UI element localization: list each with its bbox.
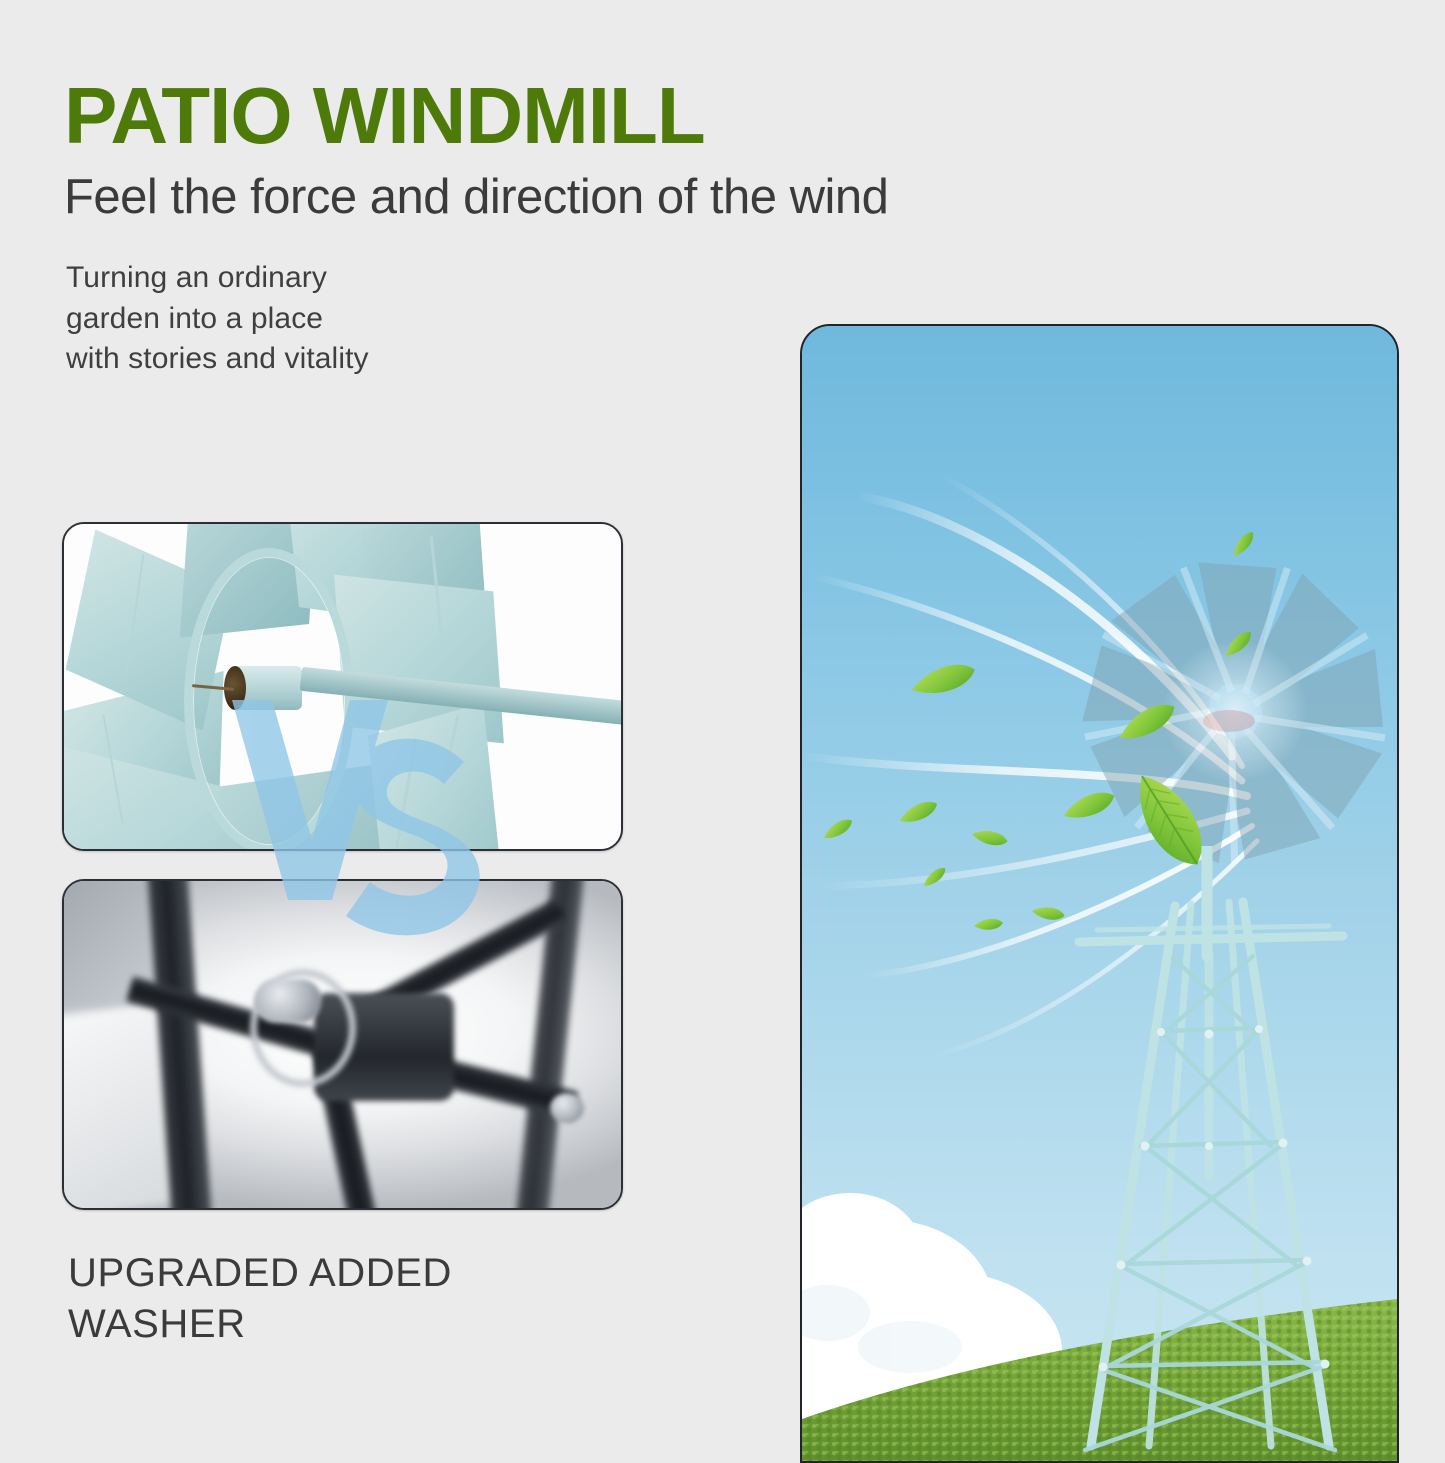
feature-caption-line-2: WASHER xyxy=(68,1299,452,1350)
page-subtitle: Feel the force and direction of the wind xyxy=(64,172,964,223)
windmill-hero-photo xyxy=(800,324,1399,1463)
headline-block: PATIO WINDMILL Feel the force and direct… xyxy=(64,78,964,223)
upgraded-washer-photo-card xyxy=(62,879,623,1210)
page-title: PATIO WINDMILL xyxy=(64,78,964,154)
upgraded-washer-photo xyxy=(64,881,621,1208)
infographic-canvas: PATIO WINDMILL Feel the force and direct… xyxy=(0,0,1445,1445)
feature-caption: UPGRADED ADDED WASHER xyxy=(68,1248,452,1350)
lede-line-2: garden into a place xyxy=(66,299,369,340)
lede-line-1: Turning an ordinary xyxy=(66,258,369,299)
lede-line-3: with stories and vitality xyxy=(66,339,369,380)
windmill-hub-photo-card xyxy=(62,522,623,851)
lede-paragraph: Turning an ordinary garden into a place … xyxy=(66,258,369,380)
windmill-hub-photo xyxy=(64,524,621,849)
feature-caption-line-1: UPGRADED ADDED xyxy=(68,1248,452,1299)
windmill-tower xyxy=(1057,846,1397,1461)
